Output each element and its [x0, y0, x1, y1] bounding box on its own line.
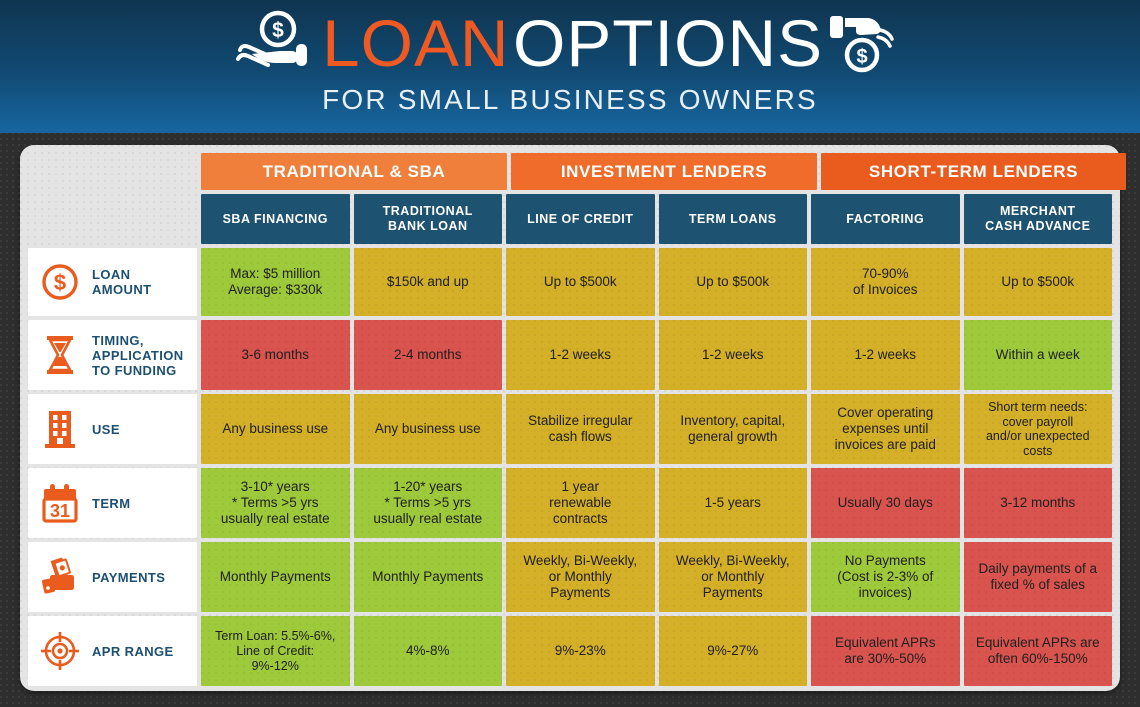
row-label-apr-range[interactable]: APR RANGE	[28, 616, 197, 686]
column-header-row: SBA FINANCING TRADITIONAL BANK LOAN LINE…	[28, 194, 1112, 244]
row-label-timing-application-to-funding[interactable]: TIMING, APPLICATION TO FUNDING	[28, 320, 197, 390]
dollar-coin-icon: $	[40, 262, 80, 302]
cell-use-term-loans[interactable]: Inventory, capital, general growth	[659, 394, 808, 464]
group-header-label: SHORT-TERM LENDERS	[869, 162, 1078, 182]
calendar-31-icon: 31	[40, 483, 80, 523]
title-row: $ LOAN OPTIONS	[234, 4, 906, 82]
table-row: PAYMENTS Monthly Payments Monthly Paymen…	[28, 542, 1112, 612]
row-label-text: PAYMENTS	[92, 570, 165, 585]
group-header-label: INVESTMENT LENDERS	[561, 162, 767, 182]
cell-use-sba-financing[interactable]: Any business use	[201, 394, 350, 464]
cell-apr-traditional-bank-loan[interactable]: 4%-8%	[354, 616, 503, 686]
infographic-page: $ LOAN OPTIONS	[0, 0, 1140, 707]
group-header-row: TRADITIONAL & SBA INVESTMENT LENDERS SHO…	[28, 153, 1112, 190]
column-header-traditional-bank-loan[interactable]: TRADITIONAL BANK LOAN	[354, 194, 503, 244]
title-options: OPTIONS	[513, 10, 823, 76]
target-icon	[40, 631, 80, 671]
cell-timing-line-of-credit[interactable]: 1-2 weeks	[506, 320, 655, 390]
cell-use-traditional-bank-loan[interactable]: Any business use	[354, 394, 503, 464]
cell-payments-line-of-credit[interactable]: Weekly, Bi-Weekly, or Monthly Payments	[506, 542, 655, 612]
cell-payments-merchant-cash-advance[interactable]: Daily payments of a fixed % of sales	[964, 542, 1113, 612]
table-row: TIMING, APPLICATION TO FUNDING 3-6 month…	[28, 320, 1112, 390]
hourglass-icon	[40, 335, 80, 375]
table-row: $ LOAN AMOUNT Max: $5 million Average: $…	[28, 248, 1112, 316]
cell-apr-sba-financing[interactable]: Term Loan: 5.5%-6%, Line of Credit: 9%-1…	[201, 616, 350, 686]
building-icon	[40, 409, 80, 449]
cell-term-merchant-cash-advance[interactable]: 3-12 months	[964, 468, 1113, 538]
group-header-short-term-lenders[interactable]: SHORT-TERM LENDERS	[821, 153, 1126, 190]
svg-text:$: $	[856, 46, 867, 68]
row-label-text: LOAN AMOUNT	[92, 267, 151, 297]
row-label-payments[interactable]: PAYMENTS	[28, 542, 197, 612]
cell-payments-sba-financing[interactable]: Monthly Payments	[201, 542, 350, 612]
banner-subtitle: FOR SMALL BUSINESS OWNERS	[322, 84, 818, 116]
group-header-investment-lenders[interactable]: INVESTMENT LENDERS	[511, 153, 817, 190]
cell-loan-amount-line-of-credit[interactable]: Up to $500k	[506, 248, 655, 316]
row-label-term[interactable]: 31 TERM	[28, 468, 197, 538]
cell-timing-sba-financing[interactable]: 3-6 months	[201, 320, 350, 390]
row-label-loan-amount[interactable]: $ LOAN AMOUNT	[28, 248, 197, 316]
cell-apr-merchant-cash-advance[interactable]: Equivalent APRs are often 60%-150%	[964, 616, 1113, 686]
cell-timing-factoring[interactable]: 1-2 weeks	[811, 320, 960, 390]
cell-timing-merchant-cash-advance[interactable]: Within a week	[964, 320, 1113, 390]
cell-use-merchant-cash-advance[interactable]: Short term needs: cover payroll and/or u…	[964, 394, 1113, 464]
cell-use-line-of-credit[interactable]: Stabilize irregular cash flows	[506, 394, 655, 464]
row-label-text: TERM	[92, 496, 130, 511]
cell-payments-term-loans[interactable]: Weekly, Bi-Weekly, or Monthly Payments	[659, 542, 808, 612]
column-header-spacer	[28, 194, 197, 244]
cell-use-factoring[interactable]: Cover operating expenses until invoices …	[811, 394, 960, 464]
group-header-spacer	[28, 153, 197, 190]
group-header-label: TRADITIONAL & SBA	[263, 162, 446, 182]
row-label-use[interactable]: USE	[28, 394, 197, 464]
cell-term-term-loans[interactable]: 1-5 years	[659, 468, 808, 538]
column-header-line-of-credit[interactable]: LINE OF CREDIT	[506, 194, 655, 244]
column-header-merchant-cash-advance[interactable]: MERCHANT CASH ADVANCE	[964, 194, 1113, 244]
hand-holding-coin-icon: $	[234, 10, 316, 77]
cell-timing-traditional-bank-loan[interactable]: 2-4 months	[354, 320, 503, 390]
hand-giving-coin-icon: $	[828, 8, 906, 79]
cell-term-line-of-credit[interactable]: 1 year renewable contracts	[506, 468, 655, 538]
cell-apr-term-loans[interactable]: 9%-27%	[659, 616, 808, 686]
row-label-text: USE	[92, 422, 120, 437]
wallet-cash-icon	[40, 557, 80, 597]
cell-apr-factoring[interactable]: Equivalent APRs are 30%-50%	[811, 616, 960, 686]
comparison-table-card: TRADITIONAL & SBA INVESTMENT LENDERS SHO…	[20, 145, 1120, 691]
group-header-traditional-sba[interactable]: TRADITIONAL & SBA	[201, 153, 507, 190]
svg-text:31: 31	[50, 501, 70, 521]
table-row: 31 TERM 3-10* years * Terms >5 yrs usual…	[28, 468, 1112, 538]
header-banner: $ LOAN OPTIONS	[0, 0, 1140, 133]
cell-timing-term-loans[interactable]: 1-2 weeks	[659, 320, 808, 390]
svg-text:$: $	[272, 19, 284, 42]
cell-loan-amount-term-loans[interactable]: Up to $500k	[659, 248, 808, 316]
cell-payments-traditional-bank-loan[interactable]: Monthly Payments	[354, 542, 503, 612]
cell-loan-amount-traditional-bank-loan[interactable]: $150k and up	[354, 248, 503, 316]
cell-payments-factoring[interactable]: No Payments (Cost is 2-3% of invoices)	[811, 542, 960, 612]
table-row: APR RANGE Term Loan: 5.5%-6%, Line of Cr…	[28, 616, 1112, 686]
svg-text:$: $	[54, 270, 66, 295]
cell-loan-amount-sba-financing[interactable]: Max: $5 million Average: $330k	[201, 248, 350, 316]
row-label-text: TIMING, APPLICATION TO FUNDING	[92, 333, 184, 378]
cell-loan-amount-merchant-cash-advance[interactable]: Up to $500k	[964, 248, 1113, 316]
cell-term-sba-financing[interactable]: 3-10* years * Terms >5 yrs usually real …	[201, 468, 350, 538]
table-row: USE Any business use Any business use St…	[28, 394, 1112, 464]
column-header-sba-financing[interactable]: SBA FINANCING	[201, 194, 350, 244]
cell-term-traditional-bank-loan[interactable]: 1-20* years * Terms >5 yrs usually real …	[354, 468, 503, 538]
title-loan: LOAN	[322, 10, 509, 76]
column-header-term-loans[interactable]: TERM LOANS	[659, 194, 808, 244]
row-label-text: APR RANGE	[92, 644, 174, 659]
cell-loan-amount-factoring[interactable]: 70-90% of Invoices	[811, 248, 960, 316]
cell-apr-line-of-credit[interactable]: 9%-23%	[506, 616, 655, 686]
column-header-factoring[interactable]: FACTORING	[811, 194, 960, 244]
cell-term-factoring[interactable]: Usually 30 days	[811, 468, 960, 538]
